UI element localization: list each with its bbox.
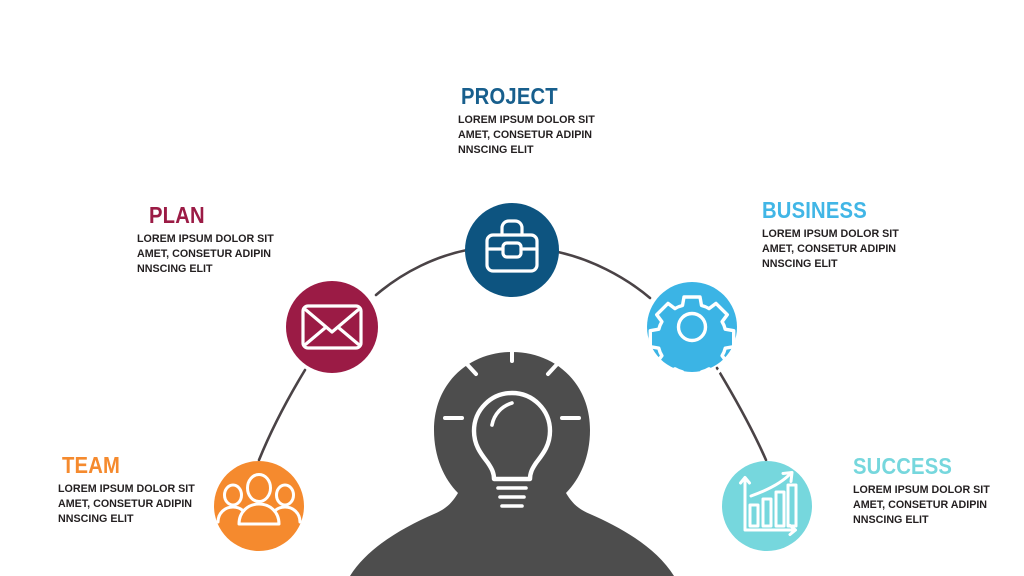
label-block-team: TEAM LOREM IPSUM DOLOR SIT AMET, CONSETU… <box>58 453 204 528</box>
section-body-success-line-3: NNSCING ELIT <box>853 513 990 528</box>
section-body-success-line-2: AMET, CONSETUR ADIPIN <box>853 498 990 513</box>
labels-layer: PROJECT LOREM IPSUM DOLOR SIT AMET, CONS… <box>0 0 1024 576</box>
section-body-team-line-3: NNSCING ELIT <box>58 512 195 527</box>
section-body-business-line-2: AMET, CONSETUR ADIPIN <box>762 242 899 257</box>
section-body-plan-line-2: AMET, CONSETUR ADIPIN <box>137 247 274 262</box>
section-body-plan-line-1: LOREM IPSUM DOLOR SIT <box>137 232 274 247</box>
label-block-success: SUCCESS LOREM IPSUM DOLOR SIT AMET, CONS… <box>853 454 999 529</box>
section-title-success: SUCCESS <box>853 454 981 479</box>
section-body-success-line-1: LOREM IPSUM DOLOR SIT <box>853 483 990 498</box>
label-block-business: BUSINESS LOREM IPSUM DOLOR SIT AMET, CON… <box>762 198 908 273</box>
section-body-project-line-3: NNSCING ELIT <box>458 143 595 158</box>
label-block-project: PROJECT LOREM IPSUM DOLOR SIT AMET, CONS… <box>458 84 604 159</box>
section-title-team: TEAM <box>62 453 187 478</box>
section-title-project: PROJECT <box>461 84 586 109</box>
section-body-project-line-1: LOREM IPSUM DOLOR SIT <box>458 113 595 128</box>
section-body-project-line-2: AMET, CONSETUR ADIPIN <box>458 128 595 143</box>
section-body-business-line-3: NNSCING ELIT <box>762 257 899 272</box>
section-title-business: BUSINESS <box>762 198 890 223</box>
infographic-canvas: PROJECT LOREM IPSUM DOLOR SIT AMET, CONS… <box>0 0 1024 576</box>
label-block-plan: PLAN LOREM IPSUM DOLOR SIT AMET, CONSETU… <box>137 203 283 278</box>
section-body-plan-line-3: NNSCING ELIT <box>137 262 274 277</box>
section-title-plan: PLAN <box>149 203 267 228</box>
section-body-business-line-1: LOREM IPSUM DOLOR SIT <box>762 227 899 242</box>
section-body-team-line-1: LOREM IPSUM DOLOR SIT <box>58 482 195 497</box>
section-body-team-line-2: AMET, CONSETUR ADIPIN <box>58 497 195 512</box>
